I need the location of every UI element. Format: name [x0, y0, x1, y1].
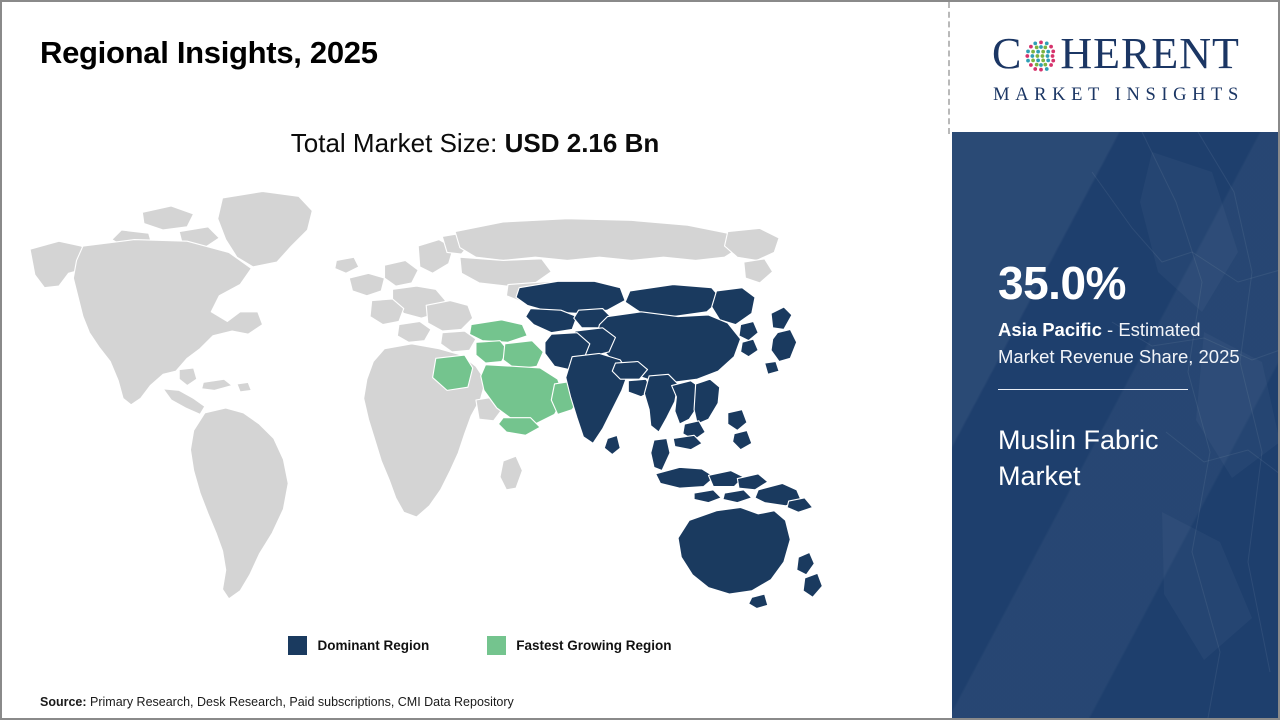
legend-swatch-fastest-growing: [487, 636, 506, 655]
world-map: [22, 182, 832, 622]
source-text: Primary Research, Desk Research, Paid su…: [87, 695, 514, 709]
total-market-size-label: Total Market Size:: [291, 128, 505, 158]
regional-insights-infographic: Regional Insights, 2025 Total Market Siz…: [0, 0, 1280, 720]
source-note: Source: Primary Research, Desk Research,…: [40, 695, 514, 709]
stat-description: Asia Pacific - Estimated Market Revenue …: [998, 316, 1248, 371]
logo-wordmark: C: [992, 29, 1240, 79]
brand-logo: C: [952, 2, 1280, 132]
stat-region-name: Asia Pacific: [998, 319, 1102, 340]
logo-wordmark-first-letter: C: [992, 32, 1022, 76]
legend-label-dominant: Dominant Region: [317, 638, 429, 653]
market-name: Muslin Fabric Market: [998, 422, 1248, 495]
stat-divider-rule: [998, 389, 1188, 390]
logo-subtitle: MARKET INSIGHTS: [988, 85, 1244, 106]
total-market-size-value: USD 2.16 Bn: [505, 128, 660, 158]
map-pane: Regional Insights, 2025 Total Market Siz…: [2, 2, 948, 718]
stat-content: 35.0% Asia Pacific - Estimated Market Re…: [998, 260, 1248, 495]
world-map-svg: [22, 182, 832, 622]
page-title: Regional Insights, 2025: [40, 35, 378, 71]
map-dominant-regions: [516, 281, 822, 608]
legend-item-dominant: Dominant Region: [288, 636, 429, 655]
dotted-globe-icon: [1023, 38, 1059, 74]
legend-swatch-dominant: [288, 636, 307, 655]
map-legend: Dominant Region Fastest Growing Region: [2, 636, 948, 655]
stat-percentage: 35.0%: [998, 260, 1248, 306]
legend-item-fastest-growing: Fastest Growing Region: [487, 636, 671, 655]
logo-wordmark-rest: HERENT: [1060, 32, 1240, 76]
stat-panel: 35.0% Asia Pacific - Estimated Market Re…: [952, 132, 1280, 718]
panel-divider: [948, 2, 950, 134]
source-label: Source:: [40, 695, 87, 709]
legend-label-fastest-growing: Fastest Growing Region: [516, 638, 671, 653]
total-market-size: Total Market Size: USD 2.16 Bn: [2, 128, 948, 159]
